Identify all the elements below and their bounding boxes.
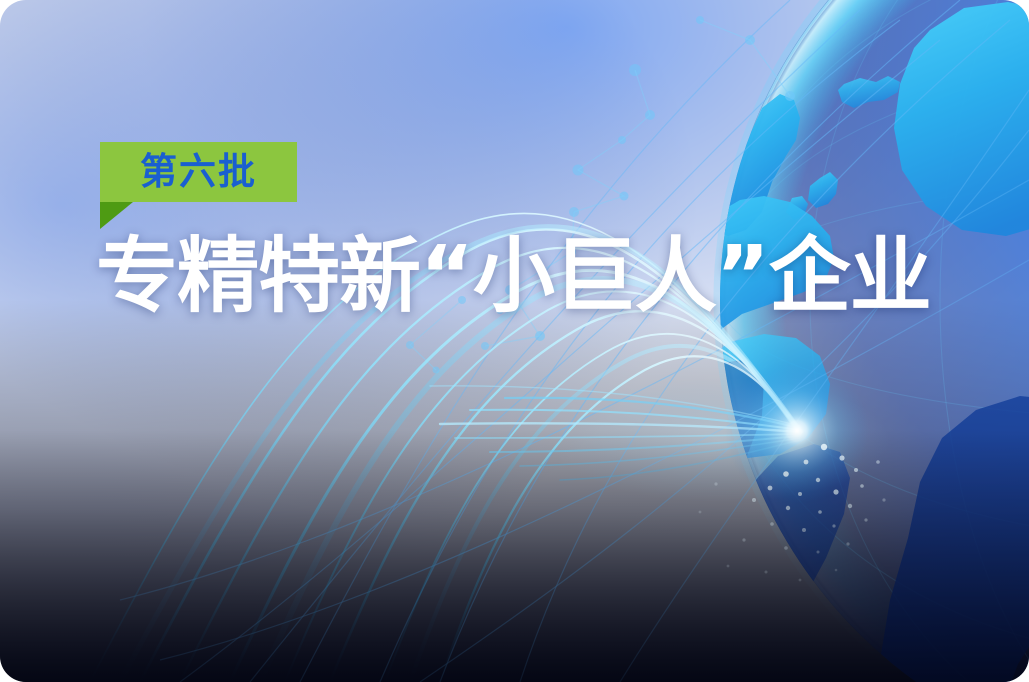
batch-badge-tail — [100, 202, 133, 229]
batch-badge-label: 第六批 — [140, 153, 257, 190]
batch-badge-box: 第六批 — [100, 142, 297, 202]
bottom-shade-layer — [0, 0, 1029, 682]
banner-root: 第六批 专精特新“小巨人”企业 — [0, 0, 1029, 682]
batch-badge: 第六批 — [100, 142, 297, 202]
page-title: 专精特新“小巨人”企业 — [96, 236, 931, 318]
